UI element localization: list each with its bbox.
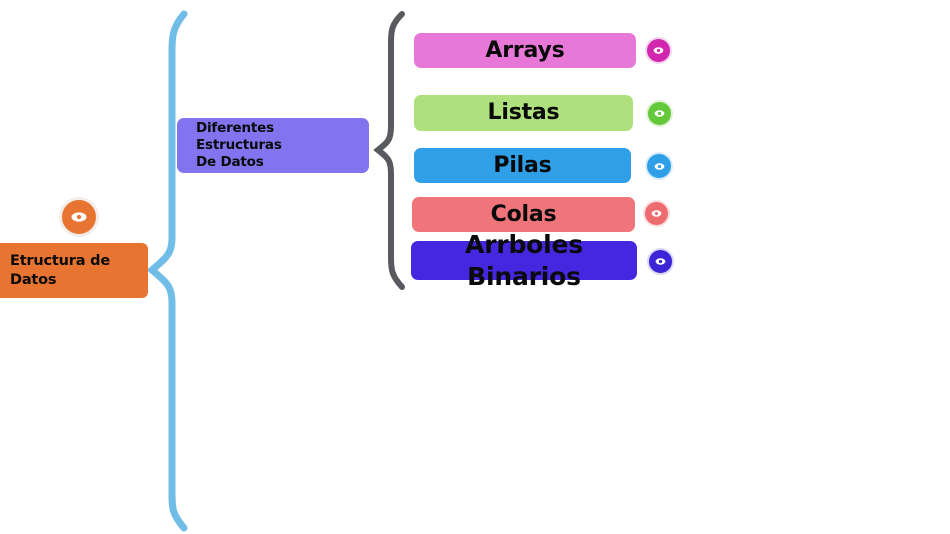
node-leaf-label: Pilas (493, 152, 551, 180)
eye-icon-arrays[interactable] (645, 37, 672, 64)
node-leaf-pilas[interactable]: Pilas (414, 148, 631, 183)
eye-glyph (69, 207, 89, 227)
node-leaf-colas[interactable]: Colas (412, 197, 635, 232)
node-leaf-label: Arrboles Binarios (411, 229, 637, 292)
node-leaf-label: Listas (488, 99, 560, 127)
eye-glyph (653, 160, 666, 173)
node-leaf-listas[interactable]: Listas (414, 95, 633, 131)
eye-icon-arrboles-binarios[interactable] (647, 248, 674, 275)
node-root[interactable]: Etructura de Datos (0, 243, 148, 298)
eye-glyph (652, 44, 665, 57)
mindmap-canvas: Etructura de Datos Diferentes Estructura… (0, 0, 950, 534)
node-leaf-arrboles-binarios[interactable]: Arrboles Binarios (411, 241, 637, 280)
eye-icon-root[interactable] (59, 197, 99, 237)
eye-icon-colas[interactable] (643, 200, 670, 227)
node-leaf-label: Colas (491, 201, 557, 229)
eye-glyph (650, 207, 663, 220)
eye-glyph (654, 255, 667, 268)
node-root-label: Etructura de Datos (10, 252, 110, 288)
node-leaf-label: Arrays (485, 37, 564, 65)
root-brace-path (152, 14, 184, 528)
node-branch-label: Diferentes Estructuras De Datos (196, 120, 350, 171)
node-branch[interactable]: Diferentes Estructuras De Datos (177, 118, 369, 173)
eye-icon-pilas[interactable] (645, 152, 673, 180)
node-leaf-arrays[interactable]: Arrays (414, 33, 636, 68)
branch-brace-path (378, 14, 402, 287)
eye-icon-listas[interactable] (646, 100, 673, 127)
eye-glyph (653, 107, 666, 120)
